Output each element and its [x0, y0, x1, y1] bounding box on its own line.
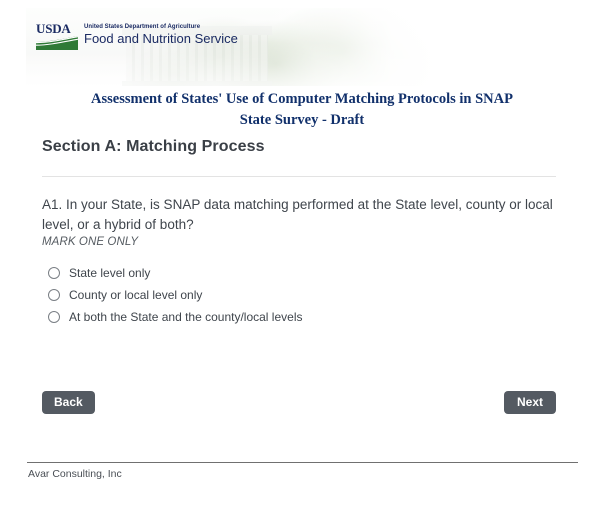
usda-fns-logo: USDA United States Department of Agricul…: [36, 22, 238, 52]
survey-page: USDA United States Department of Agricul…: [0, 0, 604, 505]
fns-service-line: Food and Nutrition Service: [84, 31, 238, 47]
question-instruction: MARK ONE ONLY: [42, 236, 138, 248]
option-row-both-state-and-county-local[interactable]: At both the State and the county/local l…: [48, 306, 528, 328]
option-row-state-level-only[interactable]: State level only: [48, 262, 528, 284]
radio-button-icon[interactable]: [48, 289, 60, 301]
option-label: State level only: [69, 266, 150, 280]
option-label: At both the State and the county/local l…: [69, 310, 302, 324]
footer-text: Avar Consulting, Inc: [28, 468, 122, 480]
radio-button-icon[interactable]: [48, 267, 60, 279]
page-title-line2: State Survey - Draft: [240, 112, 364, 128]
card-bottom-edge: [10, 437, 574, 438]
usda-agency-line: United States Department of Agriculture: [84, 23, 238, 31]
back-button[interactable]: Back: [42, 391, 95, 414]
usda-wordmark: USDA: [36, 22, 71, 35]
option-label: County or local level only: [69, 288, 202, 302]
section-heading: Section A: Matching Process: [42, 138, 265, 156]
next-button[interactable]: Next: [504, 391, 556, 414]
section-divider: [42, 176, 556, 177]
usda-swoosh-icon: [36, 36, 78, 51]
answer-options-group: State level only County or local level o…: [48, 262, 528, 328]
question-text: A1. In your State, is SNAP data matching…: [42, 195, 554, 235]
fns-logo-text: United States Department of Agriculture …: [84, 22, 238, 47]
footer-divider: [27, 462, 578, 463]
radio-button-icon[interactable]: [48, 311, 60, 323]
option-row-county-or-local-level-only[interactable]: County or local level only: [48, 284, 528, 306]
page-title: Assessment of States' Use of Computer Ma…: [42, 89, 562, 131]
usda-logo-icon: USDA: [36, 22, 78, 52]
page-title-line1: Assessment of States' Use of Computer Ma…: [91, 91, 513, 107]
